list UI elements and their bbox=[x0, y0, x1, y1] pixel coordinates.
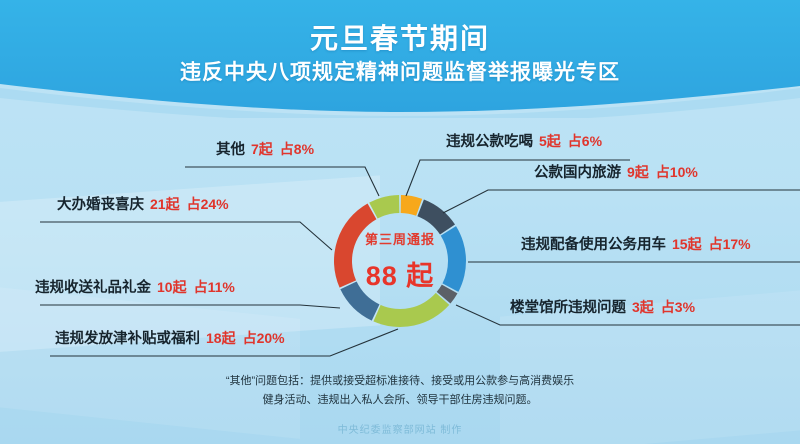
label-name: 违规配备使用公务用车 bbox=[521, 237, 666, 253]
label-percent: 占17% bbox=[709, 236, 751, 252]
label-count: 5起 bbox=[539, 133, 561, 149]
leader-line-guonei-lvyou bbox=[443, 190, 800, 213]
label-jinbutie-fuli: 违规发放津补贴或福利18起占20% bbox=[55, 327, 285, 348]
label-percent: 占11% bbox=[194, 279, 235, 295]
label-hunsang-xiqing: 大办婚丧喜庆21起占24% bbox=[57, 193, 229, 214]
label-count: 15起 bbox=[672, 236, 702, 252]
label-name: 楼堂馆所违规问题 bbox=[510, 300, 626, 316]
label-name: 违规收送礼品礼金 bbox=[35, 280, 151, 296]
label-count: 21起 bbox=[150, 196, 180, 212]
label-loutang-guansuo: 楼堂馆所违规问题3起占3% bbox=[510, 296, 695, 317]
label-name: 公款国内旅游 bbox=[534, 165, 621, 181]
label-count: 7起 bbox=[251, 141, 273, 157]
label-percent: 占8% bbox=[280, 141, 314, 157]
leader-line-hunsang-xiqing bbox=[40, 222, 332, 250]
label-name: 大办婚丧喜庆 bbox=[57, 197, 144, 213]
header-text-group: 元旦春节期间 违反中央八项规定精神问题监督举报曝光专区 bbox=[0, 0, 800, 86]
label-count: 10起 bbox=[157, 279, 187, 295]
page-title: 元旦春节期间 bbox=[0, 22, 800, 56]
label-name: 其他 bbox=[216, 142, 245, 158]
label-count: 3起 bbox=[632, 299, 654, 315]
label-qita: 其他7起占8% bbox=[216, 138, 314, 159]
label-name: 违规公款吃喝 bbox=[446, 134, 533, 150]
label-percent: 占24% bbox=[187, 196, 229, 212]
infographic-root: 元旦春节期间 违反中央八项规定精神问题监督举报曝光专区 bbox=[0, 0, 800, 444]
label-percent: 占20% bbox=[243, 330, 285, 346]
label-name: 违规发放津补贴或福利 bbox=[55, 331, 200, 347]
page-subtitle: 违反中央八项规定精神问题监督举报曝光专区 bbox=[0, 60, 800, 86]
label-gongwu-yongche: 违规配备使用公务用车15起占17% bbox=[521, 233, 751, 254]
leader-line-qita bbox=[185, 167, 379, 196]
label-count: 18起 bbox=[206, 330, 236, 346]
label-count: 9起 bbox=[627, 164, 649, 180]
footnote: “其他”问题包括：提供或接受超标准接待、接受或用公款参与高消费娱乐 健身活动、违… bbox=[0, 372, 800, 411]
label-gongkuan-chihe: 违规公款吃喝5起占6% bbox=[446, 130, 602, 151]
label-percent: 占6% bbox=[568, 133, 602, 149]
label-percent: 占10% bbox=[656, 164, 698, 180]
label-percent: 占3% bbox=[661, 299, 695, 315]
footnote-line-1: “其他”问题包括：提供或接受超标准接待、接受或用公款参与高消费娱乐 bbox=[0, 372, 800, 391]
label-lipin-lijin: 违规收送礼品礼金10起占11% bbox=[35, 276, 235, 297]
leader-line-lipin-lijin bbox=[40, 305, 340, 308]
credit-line: 中央纪委监察部网站 制作 bbox=[0, 421, 800, 436]
label-guonei-lvyou: 公款国内旅游9起占10% bbox=[534, 161, 698, 182]
footnote-line-2: 健身活动、违规出入私人会所、领导干部住房违规问题。 bbox=[0, 391, 800, 410]
